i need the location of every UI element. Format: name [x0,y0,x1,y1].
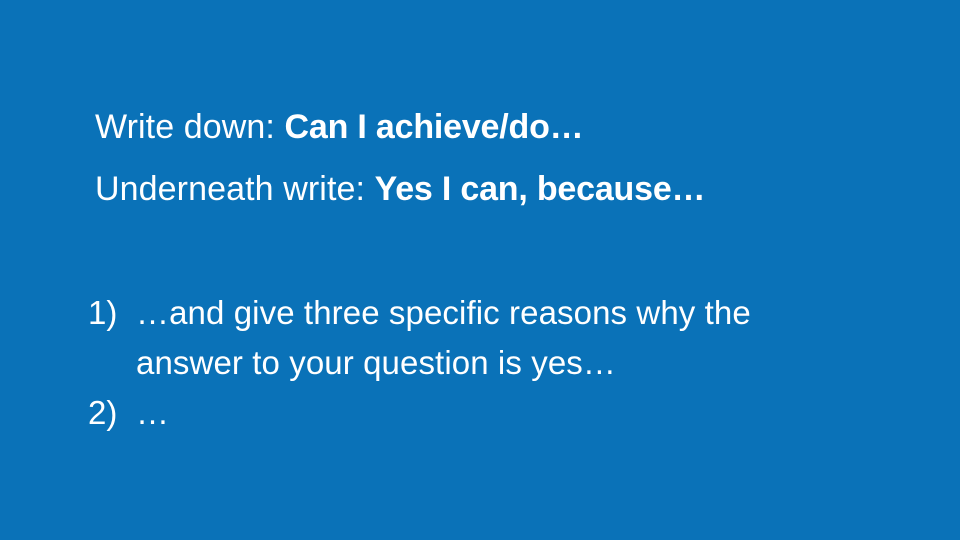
heading-line-underneath-write: Underneath write: Yes I can, because… [95,158,885,220]
slide-canvas: Write down: Can I achieve/do… Underneath… [0,0,960,540]
heading-line2-emphasis: Yes I can, because… [375,170,706,208]
heading-block: Write down: Can I achieve/do… Underneath… [95,96,885,220]
list-item-marker: 1) [88,288,136,338]
list-item: 2) … [88,388,848,438]
list-item-marker: 2) [88,388,136,438]
heading-line1-emphasis: Can I achieve/do… [285,108,584,146]
list-item-text: …and give three specific reasons why the… [136,288,808,388]
list-item-text: … [136,388,808,438]
heading-line-write-down: Write down: Can I achieve/do… [95,96,885,158]
heading-line2-lead: Underneath write: [95,170,375,208]
numbered-list: 1) …and give three specific reasons why … [88,288,848,438]
list-item: 1) …and give three specific reasons why … [88,288,848,388]
heading-line1-lead: Write down: [95,108,285,146]
